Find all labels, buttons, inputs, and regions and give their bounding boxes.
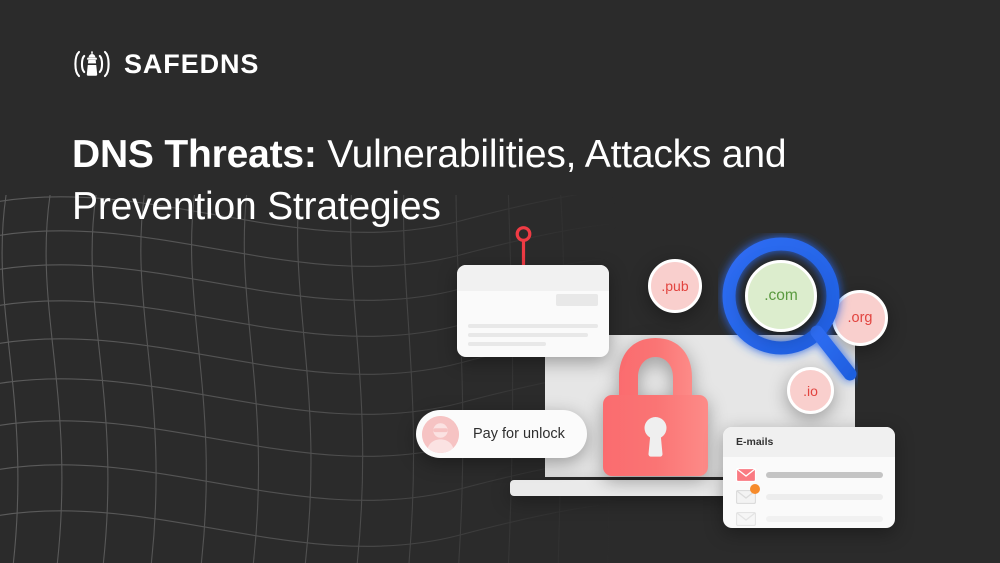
page-title-emphasis: DNS Threats: xyxy=(72,133,317,176)
domain-bubble-pub[interactable]: .pub xyxy=(648,259,702,313)
phishing-card-body xyxy=(457,291,609,346)
magnifying-glass-icon[interactable]: .com xyxy=(718,233,858,403)
email-subject-bar xyxy=(766,472,883,478)
unread-badge-icon xyxy=(750,484,760,494)
lighthouse-beacon-icon xyxy=(71,47,113,81)
phishing-card-line xyxy=(468,333,588,337)
phishing-card-line xyxy=(468,324,598,328)
emails-list xyxy=(723,457,895,528)
poster-canvas: SAFEDNS DNS Threats: Vulnerabilities, At… xyxy=(0,0,1000,563)
hero-illustration: Pay for unlock .pub .org .io xyxy=(400,215,1000,563)
domain-bubble-label: .com xyxy=(764,287,798,305)
domain-bubble-com[interactable]: .com xyxy=(745,260,817,332)
emails-panel-title: E-mails xyxy=(736,436,773,448)
envelope-icon xyxy=(736,512,756,526)
emails-panel-header: E-mails xyxy=(723,427,895,457)
envelope-icon-alert xyxy=(736,468,756,482)
email-subject-bar xyxy=(766,516,883,522)
hacker-avatar-icon xyxy=(422,416,459,453)
pay-for-unlock-label: Pay for unlock xyxy=(473,426,565,442)
phishing-card-block xyxy=(556,294,598,306)
brand-name: SAFEDNS xyxy=(124,51,259,78)
brand-logo[interactable]: SAFEDNS xyxy=(71,47,259,81)
email-subject-bar xyxy=(766,494,883,500)
phishing-card-header xyxy=(457,265,609,291)
email-row[interactable] xyxy=(736,508,883,528)
envelope-icon xyxy=(736,490,756,504)
phishing-card xyxy=(457,265,609,357)
domain-bubble-label: .pub xyxy=(661,278,688,294)
email-row[interactable] xyxy=(736,486,883,508)
padlock-icon xyxy=(598,333,713,481)
email-row[interactable] xyxy=(736,464,883,486)
phishing-card-line xyxy=(468,342,546,346)
emails-panel: E-mails xyxy=(723,427,895,528)
pay-for-unlock-badge[interactable]: Pay for unlock xyxy=(416,410,587,458)
